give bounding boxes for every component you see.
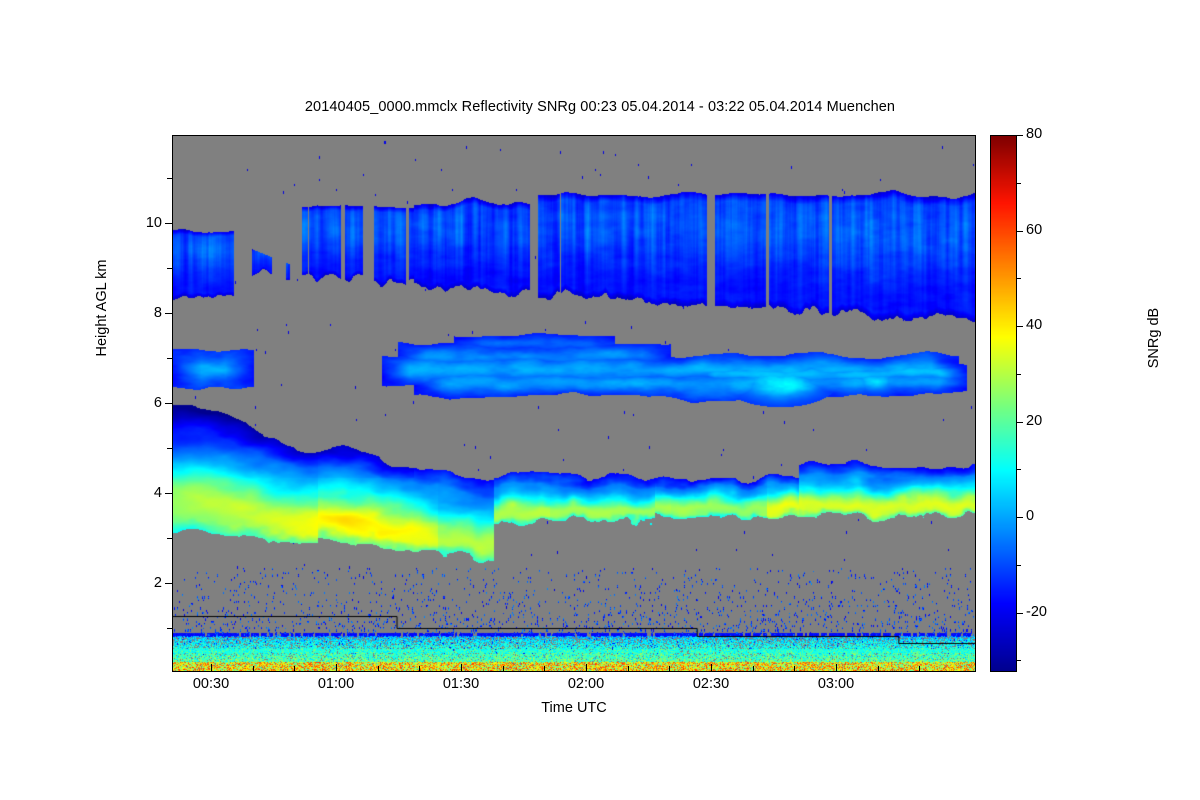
colorbar-tick-label: 60: [1026, 222, 1042, 238]
colorbar-tick-major: [1017, 613, 1023, 614]
x-tick-major: [211, 664, 212, 671]
x-tick-minor: [544, 666, 545, 671]
x-tick-major: [586, 664, 587, 671]
colorbar-tick-label: 40: [1026, 317, 1042, 333]
y-tick-label: 6: [122, 395, 162, 411]
x-axis-title: Time UTC: [173, 700, 975, 716]
x-tick-label: 03:00: [796, 676, 876, 692]
x-tick-major: [461, 664, 462, 671]
chart-title: 20140405_0000.mmclx Reflectivity SNRg 00…: [0, 99, 1200, 115]
colorbar-tick-minor: [1017, 469, 1021, 470]
colorbar-gradient: [991, 136, 1016, 671]
y-tick-major: [165, 223, 172, 224]
x-tick-minor: [419, 666, 420, 671]
y-tick-label: 4: [122, 485, 162, 501]
x-tick-label: 02:30: [671, 676, 751, 692]
x-tick-minor: [253, 666, 254, 671]
y-axis-title: Height AGL km: [94, 208, 110, 408]
x-tick-label: 01:00: [296, 676, 376, 692]
colorbar-tick-minor: [1017, 183, 1021, 184]
x-tick-major: [336, 664, 337, 671]
x-tick-minor: [794, 666, 795, 671]
x-tick-major: [836, 664, 837, 671]
radar-reflectivity-heatmap: [172, 135, 976, 672]
colorbar-title: SNRg dB: [1146, 238, 1162, 438]
colorbar-tick-minor: [1017, 565, 1021, 566]
x-tick-label: 01:30: [421, 676, 501, 692]
figure-root: 20140405_0000.mmclx Reflectivity SNRg 00…: [0, 0, 1200, 800]
x-tick-minor: [503, 666, 504, 671]
colorbar-tick-major: [1017, 422, 1023, 423]
x-tick-minor: [878, 666, 879, 671]
x-tick-minor: [628, 666, 629, 671]
x-tick-label: 02:00: [546, 676, 626, 692]
x-tick-minor: [669, 666, 670, 671]
colorbar-tick-label: 0: [1026, 508, 1034, 524]
y-tick-label: 8: [122, 305, 162, 321]
colorbar-tick-label: -20: [1026, 604, 1047, 620]
colorbar-tick-major: [1017, 231, 1023, 232]
colorbar: [990, 135, 1017, 672]
y-tick-major: [165, 313, 172, 314]
x-tick-minor: [919, 666, 920, 671]
colorbar-tick-major: [1017, 517, 1023, 518]
y-tick-label: 2: [122, 575, 162, 591]
colorbar-tick-minor: [1017, 278, 1021, 279]
colorbar-tick-label: 80: [1026, 126, 1042, 142]
colorbar-tick-minor: [1017, 374, 1021, 375]
colorbar-tick-label: 20: [1026, 413, 1042, 429]
y-tick-major: [165, 493, 172, 494]
x-tick-minor: [294, 666, 295, 671]
colorbar-tick-major: [1017, 135, 1023, 136]
y-tick-label: 10: [122, 215, 162, 231]
x-tick-major: [711, 664, 712, 671]
colorbar-tick-minor: [1017, 660, 1021, 661]
x-tick-minor: [378, 666, 379, 671]
heatmap-canvas: [173, 136, 975, 671]
x-tick-label: 00:30: [171, 676, 251, 692]
x-tick-minor: [753, 666, 754, 671]
y-tick-major: [165, 583, 172, 584]
y-tick-major: [165, 403, 172, 404]
colorbar-tick-major: [1017, 326, 1023, 327]
